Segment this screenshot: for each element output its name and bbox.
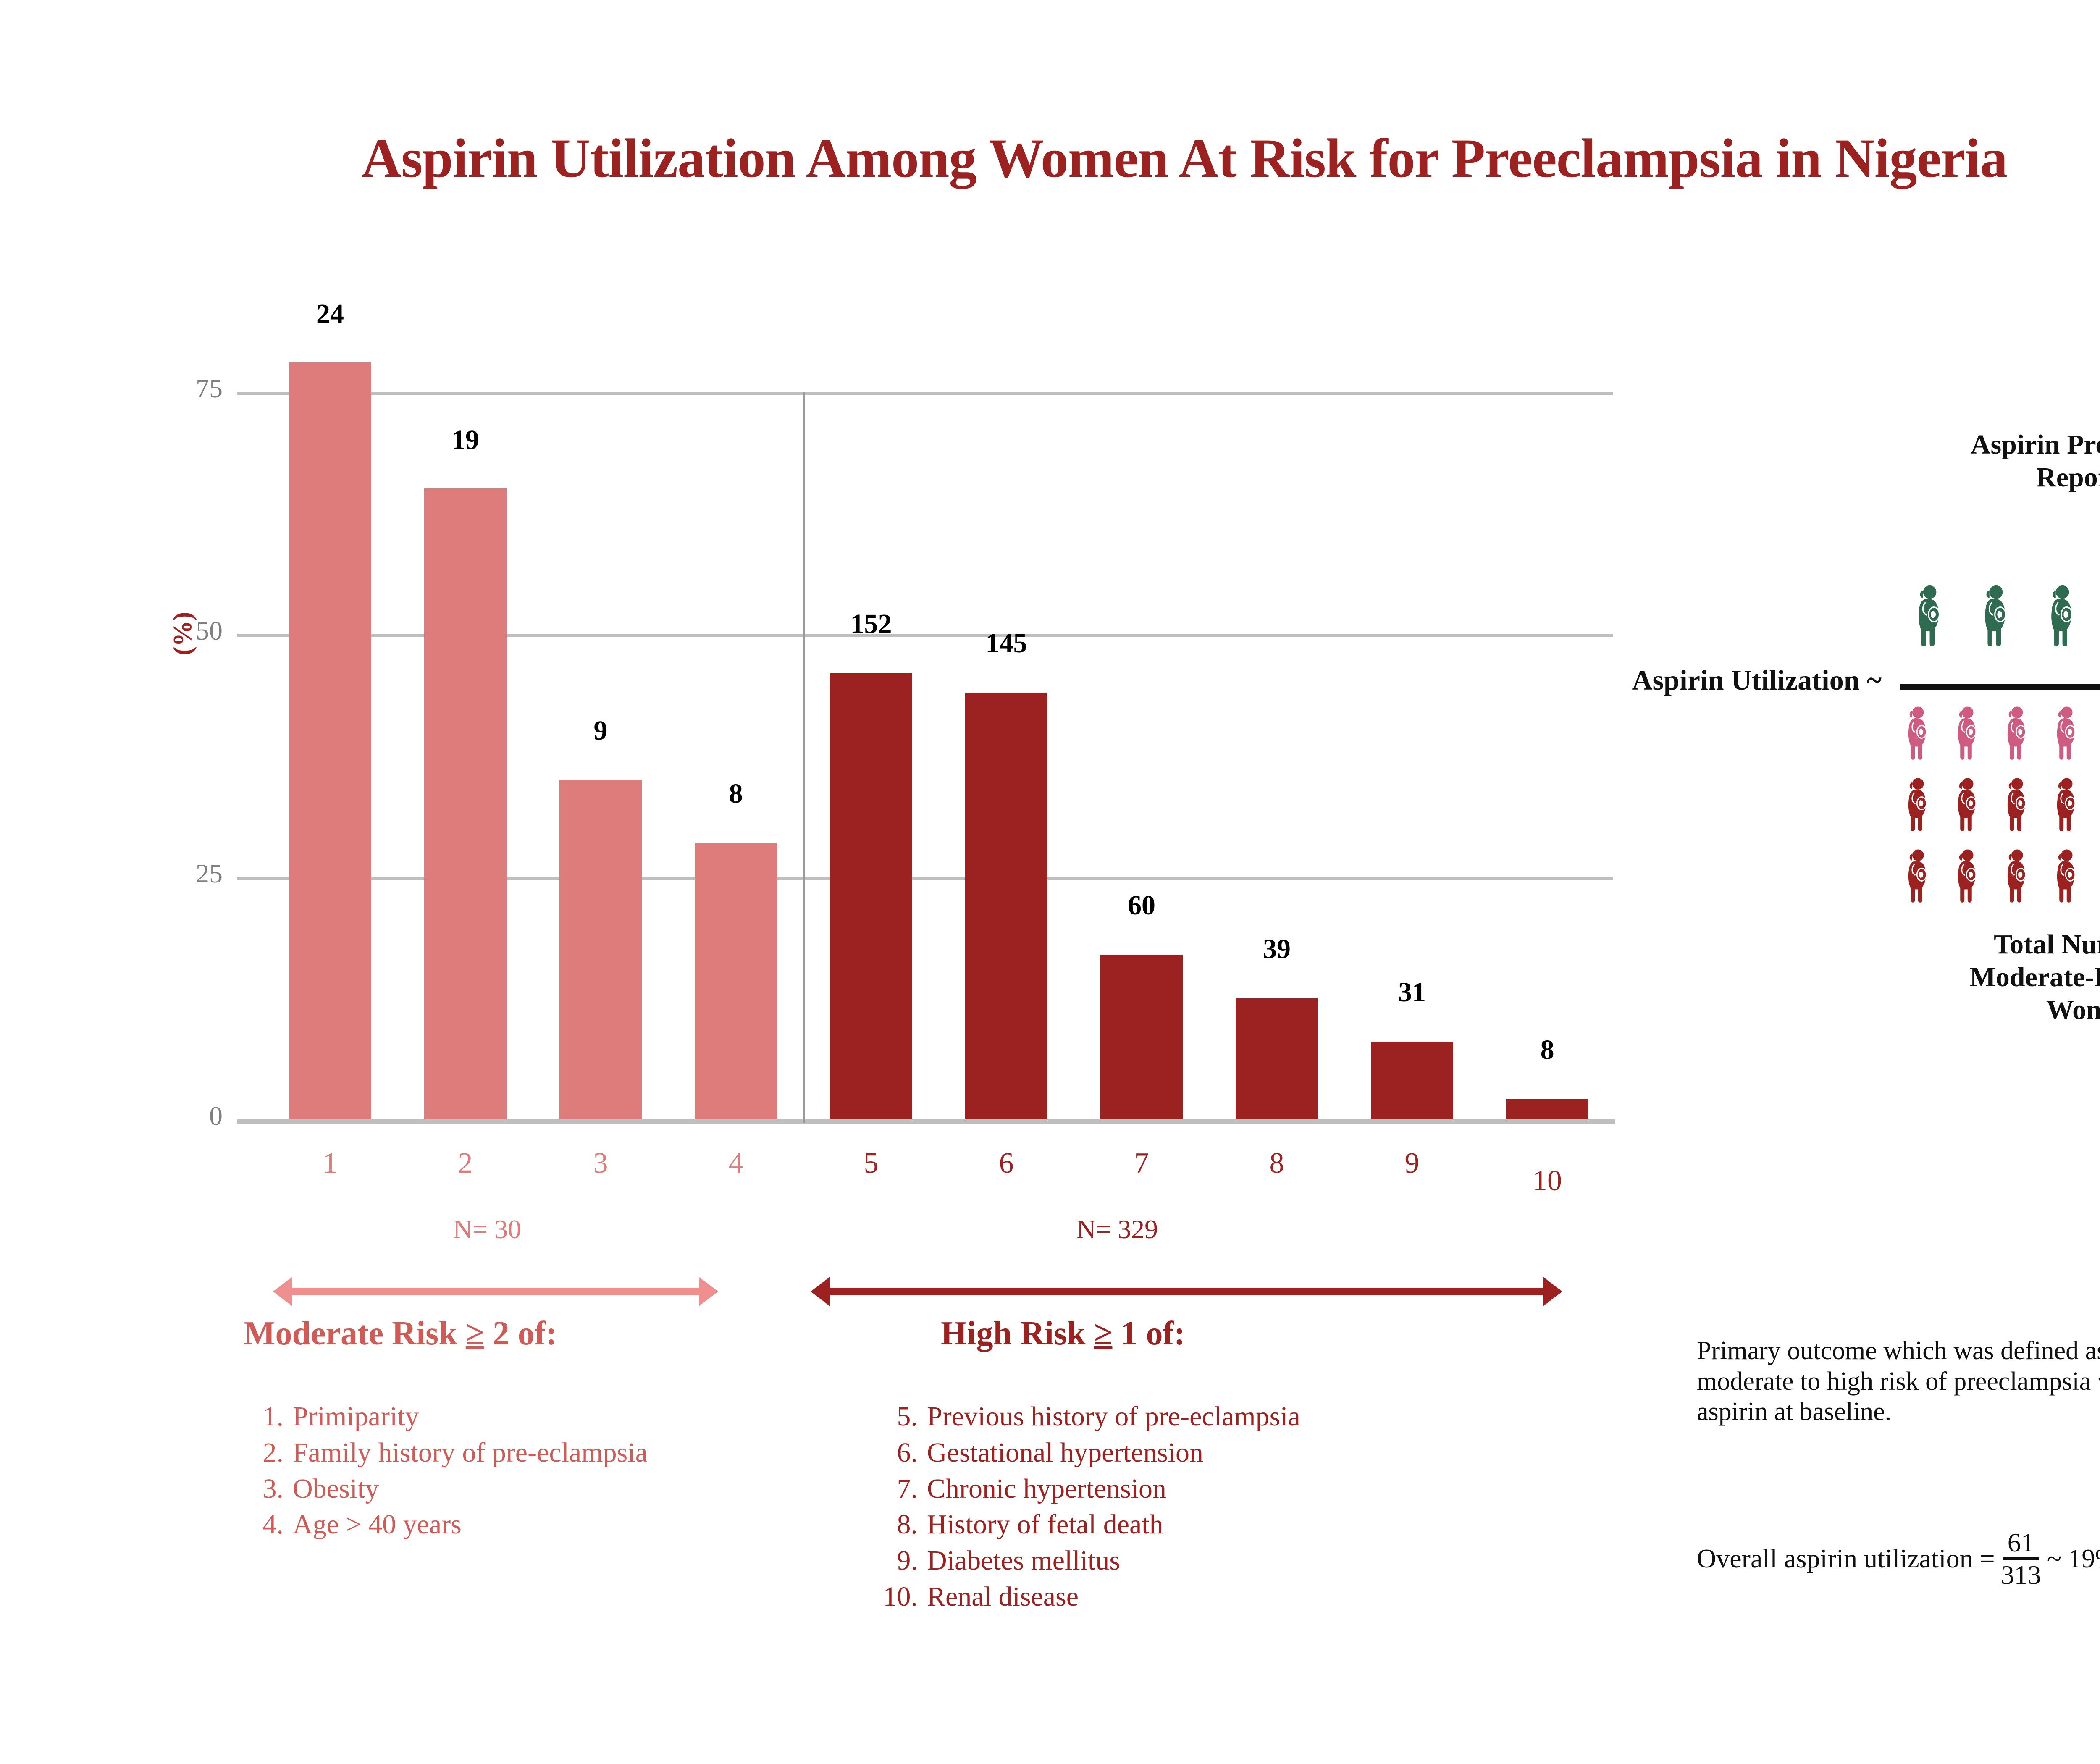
bar-value-3: 9 — [559, 715, 642, 747]
x-tick-10: 10 — [1506, 1164, 1588, 1198]
y-tick-0: 0 — [160, 1100, 223, 1131]
x-tick-6: 6 — [965, 1147, 1047, 1180]
bar-9[interactable] — [1371, 1042, 1453, 1119]
pregnant-woman-icon — [2050, 706, 2084, 773]
x-tick-8: 8 — [1236, 1147, 1318, 1180]
list-item-number: 1. — [239, 1399, 293, 1435]
list-item-number: 10. — [874, 1579, 927, 1615]
overall-utilization-approx: ~ 19% — [2047, 1543, 2100, 1574]
bar-value-10: 8 — [1506, 1034, 1588, 1066]
list-item: 8. History of fetal death — [874, 1507, 1588, 1543]
overall-utilization-formula: Overall aspirin utilization = 61 313 ~ 1… — [1697, 1529, 2100, 1589]
list-item-number: 2. — [239, 1435, 293, 1471]
pregnant-woman-icon — [1951, 848, 1985, 916]
list-item-label: Primiparity — [293, 1399, 419, 1435]
list-item-number: 4. — [239, 1507, 293, 1543]
n-label-high: N= 329 — [1012, 1214, 1222, 1245]
y-tick-75: 75 — [160, 373, 223, 404]
formula-left-label: Aspirin Utilization ~ — [1588, 664, 1882, 697]
pregnant-woman-icon — [2001, 848, 2034, 916]
formula-fraction-bar — [1900, 684, 2100, 690]
list-item-label: Chronic hypertension — [927, 1471, 1166, 1507]
list-item-label: Family history of pre-eclampsia — [293, 1435, 648, 1471]
formula-denominator-row-2 — [1902, 777, 2100, 844]
x-axis-line — [237, 1119, 1615, 1124]
list-item-label: Renal disease — [927, 1579, 1079, 1615]
group-divider — [803, 392, 805, 1123]
x-tick-7: 7 — [1100, 1147, 1183, 1180]
pregnant-woman-icon — [2044, 584, 2082, 662]
x-tick-1: 1 — [289, 1147, 371, 1180]
bar-value-1: 24 — [289, 298, 371, 330]
bar-2[interactable] — [424, 488, 507, 1119]
x-tick-4: 4 — [695, 1147, 777, 1180]
arrow-shaft — [287, 1288, 704, 1295]
pregnant-woman-icon — [2001, 777, 2034, 844]
list-item-number: 8. — [874, 1507, 927, 1543]
page-title: Aspirin Utilization Among Women At Risk … — [0, 126, 2100, 190]
high-risk-heading-suffix: 1 of: — [1112, 1315, 1185, 1352]
high-risk-heading: High Risk ≥ 1 of: — [941, 1315, 1185, 1353]
bar-value-7: 60 — [1100, 890, 1183, 921]
bar-5[interactable] — [830, 673, 912, 1119]
list-item-label: Obesity — [293, 1471, 379, 1507]
pregnant-woman-icon — [1902, 777, 1935, 844]
bar-value-6: 145 — [948, 627, 1064, 659]
moderate-risk-heading-suffix: 2 of: — [484, 1315, 557, 1352]
list-item-label: Diabetes mellitus — [927, 1543, 1120, 1579]
formula-denominator-caption-line3: Women — [1882, 994, 2100, 1026]
x-tick-2: 2 — [424, 1147, 507, 1180]
list-item: 4. Age > 40 years — [239, 1507, 911, 1543]
moderate-risk-list: 1. Primiparity 2. Family history of pre-… — [239, 1399, 911, 1543]
bar-1[interactable] — [289, 362, 371, 1119]
list-item: 9. Diabetes mellitus — [874, 1543, 1588, 1579]
pregnant-woman-icon — [1951, 777, 1985, 844]
list-item: 6. Gestational hypertension — [874, 1435, 1588, 1471]
list-item: 5. Previous history of pre-eclampsia — [874, 1399, 1588, 1435]
y-tick-50: 50 — [160, 615, 223, 646]
pregnant-woman-icon — [1977, 584, 2016, 662]
formula-numerator-caption-line2: Reported — [1882, 461, 2100, 494]
bar-value-2: 19 — [424, 424, 507, 456]
n-label-moderate: N= 30 — [399, 1214, 575, 1245]
x-tick-9: 9 — [1371, 1147, 1453, 1180]
x-tick-3: 3 — [559, 1147, 642, 1180]
pregnant-woman-icon — [1902, 848, 1935, 916]
bar-value-4: 8 — [695, 778, 777, 810]
arrow-right-head-icon — [1543, 1277, 1562, 1306]
pregnant-woman-icon — [1911, 584, 1950, 662]
overall-utilization-fraction: 61 313 — [2001, 1529, 2041, 1589]
list-item: 1. Primiparity — [239, 1399, 911, 1435]
list-item-number: 7. — [874, 1471, 927, 1507]
overall-utilization-denominator: 313 — [2001, 1560, 2041, 1588]
formula-denominator-caption-line2: Moderate-High Risk — [1882, 961, 2100, 994]
list-item-label: Gestational hypertension — [927, 1435, 1203, 1471]
list-item-number: 5. — [874, 1399, 927, 1435]
bar-8[interactable] — [1236, 998, 1318, 1119]
list-item-label: History of fetal death — [927, 1507, 1163, 1543]
moderate-risk-geq-symbol: ≥ — [466, 1315, 484, 1352]
bar-value-9: 31 — [1371, 976, 1453, 1008]
list-item: 7. Chronic hypertension — [874, 1471, 1588, 1507]
pregnant-woman-icon — [1951, 706, 1985, 773]
formula-numerator-caption-line1: Aspirin Prescription — [1882, 428, 2100, 461]
arrow-shaft — [825, 1288, 1548, 1295]
list-item-label: Age > 40 years — [293, 1507, 462, 1543]
y-tick-25: 25 — [160, 858, 223, 889]
formula-denominator-caption-line1: Total Number of — [1882, 928, 2100, 961]
overall-utilization-prefix: Overall aspirin utilization = — [1697, 1543, 1995, 1574]
bar-10[interactable] — [1506, 1099, 1588, 1119]
formula-denominator-row-3 — [1902, 848, 2100, 916]
bar-value-8: 39 — [1236, 933, 1318, 965]
list-item-number: 3. — [239, 1471, 293, 1507]
x-tick-5: 5 — [830, 1147, 912, 1180]
pregnant-woman-icon — [2050, 848, 2084, 916]
range-arrow-high — [811, 1277, 1562, 1306]
bar-7[interactable] — [1100, 955, 1183, 1119]
high-risk-heading-prefix: High Risk — [941, 1315, 1094, 1352]
moderate-risk-heading: Moderate Risk ≥ 2 of: — [244, 1315, 557, 1353]
bar-3[interactable] — [559, 780, 642, 1119]
high-risk-list: 5. Previous history of pre-eclampsia 6. … — [874, 1399, 1588, 1615]
range-arrow-moderate — [273, 1277, 718, 1306]
formula-denominator-row-1 — [1902, 706, 2100, 773]
list-item-number: 6. — [874, 1435, 927, 1471]
bar-4[interactable] — [695, 843, 777, 1119]
pregnant-woman-icon — [2050, 777, 2084, 844]
list-item: 3. Obesity — [239, 1471, 911, 1507]
moderate-risk-heading-prefix: Moderate Risk — [244, 1315, 466, 1352]
bar-value-5: 152 — [813, 608, 929, 640]
poster-canvas: Aspirin Utilization Among Women At Risk … — [0, 0, 2100, 1764]
formula-denominator-caption: Total Number of Moderate-High Risk Women — [1882, 928, 2100, 1026]
overall-utilization-numerator: 61 — [2003, 1529, 2039, 1560]
formula-numerator-icons — [1911, 584, 2082, 662]
formula-numerator-caption: Aspirin Prescription Reported — [1882, 428, 2100, 494]
pregnant-woman-icon — [1902, 706, 1935, 773]
list-item: 2. Family history of pre-eclampsia — [239, 1435, 911, 1471]
pregnant-woman-icon — [2001, 706, 2034, 773]
bar-chart: (%) 75 50 25 0 24 19 9 8 152 145 60 39 — [176, 260, 1604, 1151]
list-item: 10. Renal disease — [874, 1579, 1588, 1615]
list-item-number: 9. — [874, 1543, 927, 1579]
list-item-label: Previous history of pre-eclampsia — [927, 1399, 1300, 1435]
arrow-right-head-icon — [699, 1277, 718, 1306]
high-risk-geq-symbol: ≥ — [1094, 1315, 1113, 1352]
gridline-75 — [237, 392, 1613, 395]
primary-outcome-text: Primary outcome which was defined as the… — [1697, 1336, 2100, 1427]
bar-6[interactable] — [965, 693, 1047, 1119]
